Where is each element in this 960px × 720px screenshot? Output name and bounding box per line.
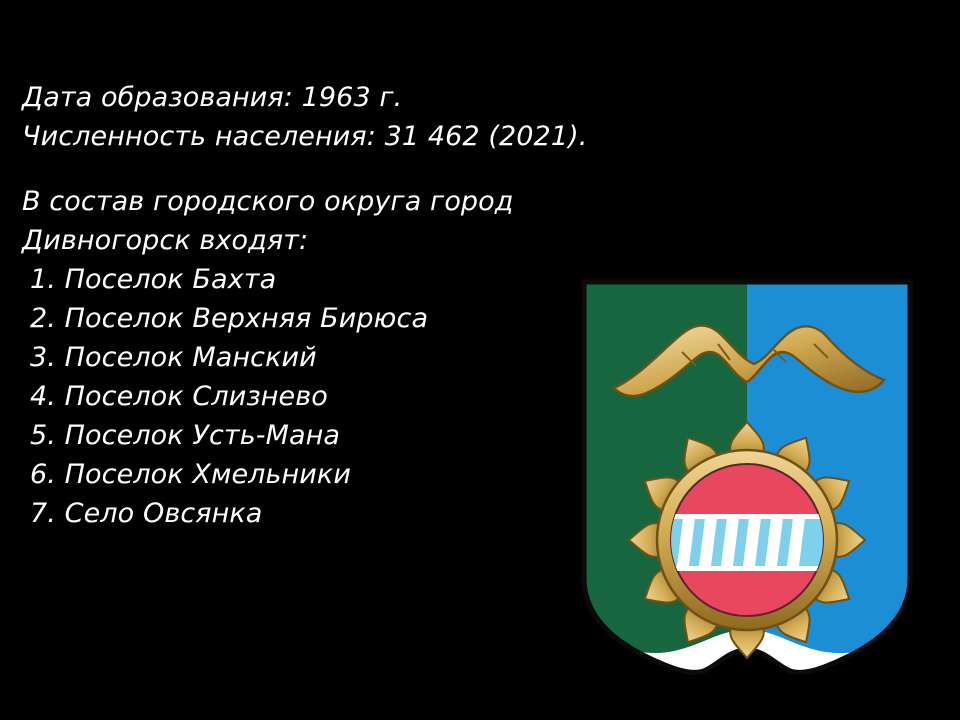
founding-date-line: Дата образования: 1963 г.: [22, 78, 622, 117]
intro-line-1: В состав городского округа город: [22, 182, 622, 221]
coat-of-arms-image: [578, 278, 916, 680]
list-item: 7. Село Овсянка: [22, 494, 622, 533]
dam-top-edge: [667, 514, 827, 519]
slide-text-block: Дата образования: 1963 г. Численность на…: [22, 78, 622, 533]
dam-band: [667, 514, 827, 571]
text-spacer: [22, 156, 622, 182]
population-line: Численность населения: 31 462 (2021).: [22, 117, 622, 156]
list-item: 5. Поселок Усть-Мана: [22, 416, 622, 455]
list-item: 2. Поселок Верхняя Бирюса: [22, 299, 622, 338]
list-item: 6. Поселок Хмельники: [22, 455, 622, 494]
coat-of-arms-svg: [578, 278, 916, 680]
dam-bottom-edge: [667, 566, 827, 571]
list-item: 4. Поселок Слизнево: [22, 377, 622, 416]
list-item: 1. Поселок Бахта: [22, 260, 622, 299]
intro-line-2: Дивногорск входят:: [22, 221, 622, 260]
list-item: 3. Поселок Манский: [22, 338, 622, 377]
slide-root: Дата образования: 1963 г. Численность на…: [0, 0, 960, 720]
